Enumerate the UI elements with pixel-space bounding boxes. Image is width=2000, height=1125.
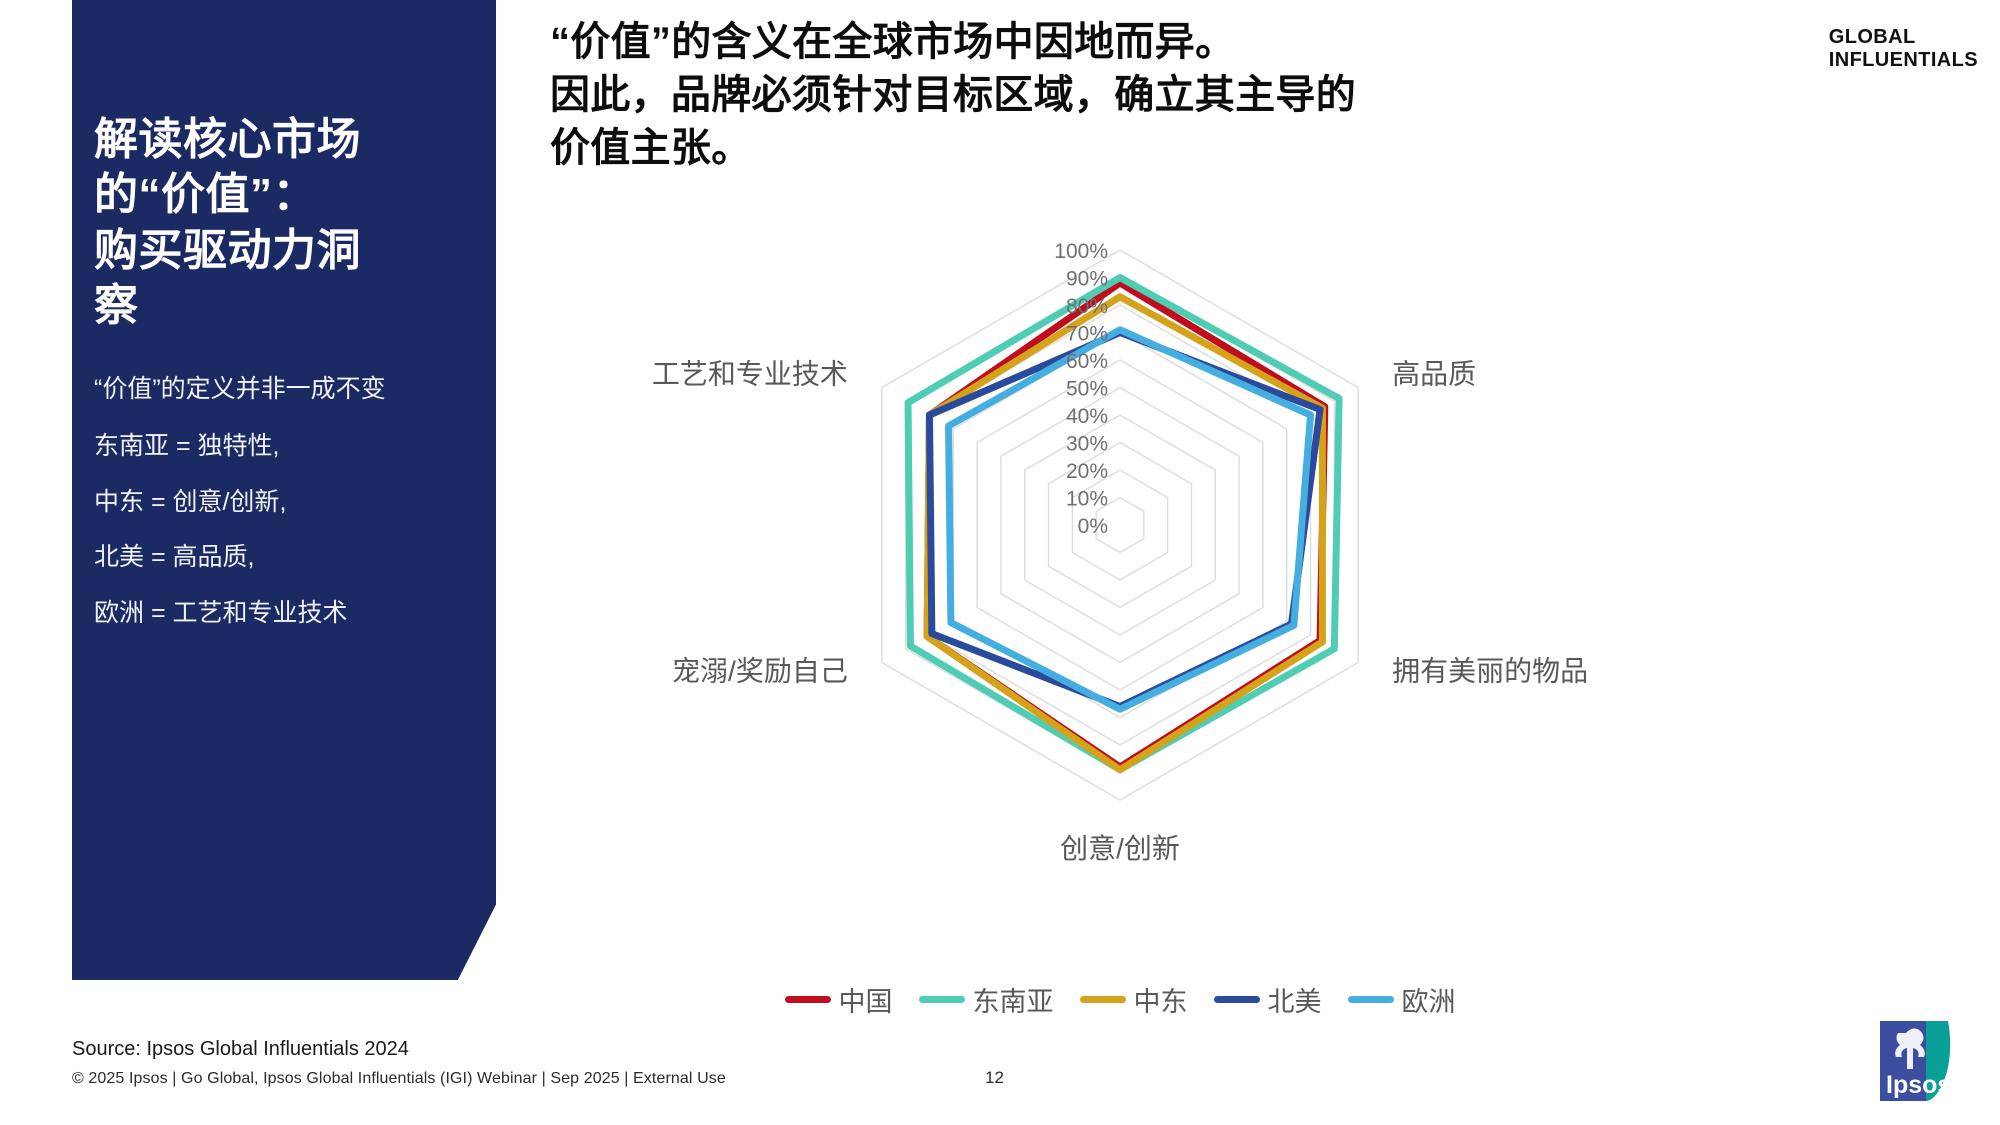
legend-swatch	[785, 996, 831, 1003]
radar-axis-label: 高品质	[1392, 359, 1476, 390]
ipsos-wordmark: Ipsos	[1886, 1071, 1951, 1099]
grid-ring	[1025, 415, 1216, 635]
list-item: 中东 = 创意/创新,	[94, 485, 452, 521]
global-influentials-logo: GLOBAL INFLUENTIALS	[1829, 26, 1978, 72]
radar-axis-label: 宠溺/奖励自己	[672, 656, 848, 687]
radial-tick-label: 100%	[1054, 240, 1108, 263]
radial-tick-label: 30%	[1066, 433, 1108, 456]
wordmark-line-1: GLOBAL	[1829, 26, 1978, 49]
radial-tick-label: 80%	[1066, 295, 1108, 318]
legend-item[interactable]: 北美	[1214, 980, 1322, 1019]
sidebar-list: 东南亚 = 独特性, 中东 = 创意/创新, 北美 = 高品质, 欧洲 = 工艺…	[94, 429, 452, 631]
legend-item[interactable]: 东南亚	[919, 980, 1054, 1019]
radial-tick-label: 10%	[1066, 488, 1108, 511]
legend-label: 欧洲	[1402, 980, 1456, 1019]
radial-tick-label: 40%	[1066, 405, 1108, 428]
copyright-note: © 2025 Ipsos | Go Global, Ipsos Global I…	[72, 1070, 726, 1088]
headline: “价值”的含义在全球市场中因地而异。 因此，品牌必须针对目标区域，确立其主导的 …	[550, 16, 1760, 176]
sidebar-panel: 解读核心市场 的“价值”： 购买驱动力洞 察 “价值”的定义并非一成不变 东南亚…	[72, 0, 496, 980]
radar-series-line	[929, 333, 1320, 707]
radar-chart-svg: 0%10%20%30%40%50%60%70%80%90%100% 独特性高品质…	[640, 215, 1600, 1015]
sidebar-content: 解读核心市场 的“价值”： 购买驱动力洞 察 “价值”的定义并非一成不变 东南亚…	[72, 0, 496, 631]
radar-axis-label: 创意/创新	[1060, 833, 1180, 864]
list-item: 东南亚 = 独特性,	[94, 429, 452, 465]
legend-label: 中国	[839, 980, 893, 1019]
legend-label: 东南亚	[973, 980, 1054, 1019]
list-item: 北美 = 高品质,	[94, 540, 452, 576]
radar-tick-labels: 0%10%20%30%40%50%60%70%80%90%100%	[1054, 240, 1108, 538]
radar-axis-label: 拥有美丽的物品	[1392, 656, 1588, 687]
legend-item[interactable]: 中东	[1080, 980, 1188, 1019]
legend-item[interactable]: 欧洲	[1348, 980, 1456, 1019]
wordmark-line-2: INFLUENTIALS	[1829, 49, 1978, 72]
chart-legend: 中国东南亚中东北美欧洲	[640, 980, 1600, 1019]
page-title: 解读核心市场 的“价值”： 购买驱动力洞 察	[94, 112, 452, 334]
sidebar-subtitle: “价值”的定义并非一成不变	[94, 372, 452, 408]
grid-ring	[1001, 388, 1239, 663]
radial-tick-label: 0%	[1078, 515, 1108, 538]
radar-chart: 0%10%20%30%40%50%60%70%80%90%100% 独特性高品质…	[640, 215, 1600, 1015]
grid-ring	[906, 278, 1335, 773]
legend-label: 北美	[1268, 980, 1322, 1019]
radial-tick-label: 50%	[1066, 378, 1108, 401]
radial-tick-label: 70%	[1066, 323, 1108, 346]
radial-tick-label: 60%	[1066, 350, 1108, 373]
legend-label: 中东	[1134, 980, 1188, 1019]
radial-tick-label: 20%	[1066, 460, 1108, 483]
source-note: Source: Ipsos Global Influentials 2024	[72, 1038, 409, 1061]
page-number: 12	[985, 1068, 1004, 1088]
grid-ring	[977, 360, 1263, 690]
legend-swatch	[1080, 996, 1126, 1003]
radar-series-line	[908, 278, 1339, 770]
legend-swatch	[1348, 996, 1394, 1003]
radar-axis-label: 工艺和专业技术	[652, 359, 848, 390]
slide: 解读核心市场 的“价值”： 购买驱动力洞 察 “价值”的定义并非一成不变 东南亚…	[0, 0, 2000, 1125]
ipsos-logo: Ipsos	[1876, 1019, 1972, 1111]
list-item: 欧洲 = 工艺和专业技术	[94, 596, 452, 632]
legend-item[interactable]: 中国	[785, 980, 893, 1019]
radial-tick-label: 90%	[1066, 268, 1108, 291]
radar-series	[908, 278, 1339, 770]
legend-swatch	[1214, 996, 1260, 1003]
legend-swatch	[919, 996, 965, 1003]
